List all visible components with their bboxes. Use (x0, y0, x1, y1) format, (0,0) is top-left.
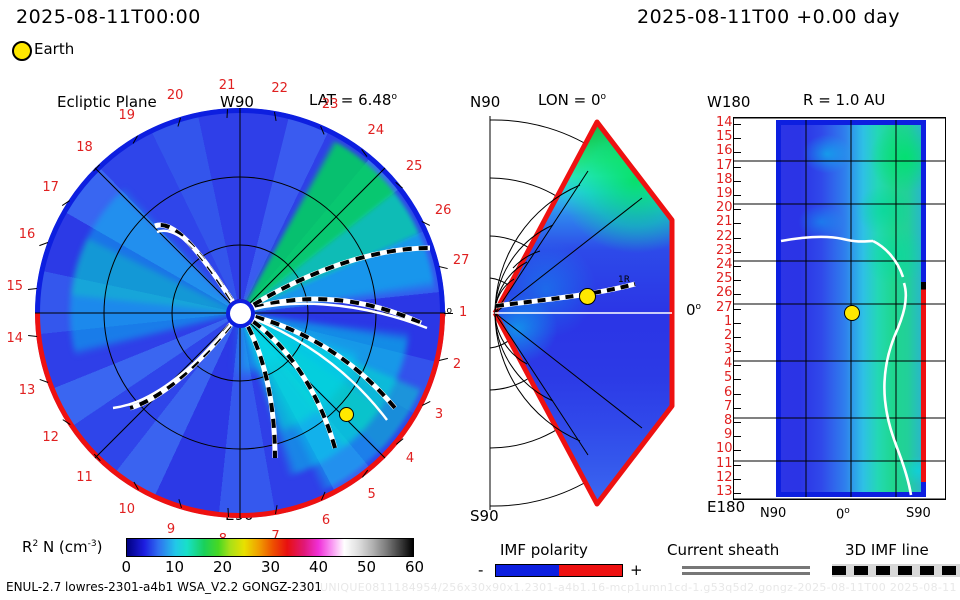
carrington-tick-20-6: 20 (716, 201, 733, 214)
colorbar-tick-50: 50 (357, 560, 376, 575)
carrington-tickmark (734, 379, 741, 380)
colorbar-tick-40: 40 (309, 560, 328, 575)
ecliptic-tick-3: 3 (435, 408, 443, 421)
imf-line-tag: 1R (618, 276, 630, 285)
ecliptic-tick-15: 15 (7, 280, 24, 293)
carrington-tickmark (734, 238, 741, 239)
carrington-x-label-zero: 0o (836, 507, 850, 521)
colorbar-label-rest: N (cm (38, 538, 87, 556)
imf-line-swatch (832, 564, 960, 577)
ecliptic-tick-13: 13 (19, 384, 36, 397)
carrington-tickmark (734, 351, 741, 352)
ecliptic-tick-19: 19 (119, 109, 136, 122)
carrington-tick-15-1: 15 (716, 130, 733, 143)
carrington-tickmark (734, 280, 741, 281)
carrington-tick-5-18: 5 (724, 371, 732, 384)
ecliptic-tick-22: 22 (271, 82, 288, 95)
carrington-tickmark (734, 138, 741, 139)
carrington-map-plot[interactable] (733, 117, 946, 500)
carrington-tickmark (734, 465, 741, 466)
earth-position-ecliptic (339, 407, 354, 422)
carrington-tickmark (734, 124, 741, 125)
carrington-bottom-left-label: E180 (707, 500, 745, 515)
ecliptic-tick-26: 26 (435, 204, 452, 217)
carrington-top-left-label: W180 (707, 95, 750, 110)
ecliptic-tick-6: 6 (322, 514, 330, 527)
carrington-tickmark (734, 337, 741, 338)
current-sheath-swatch (682, 566, 810, 578)
meridional-title: LON = 0o (538, 93, 606, 108)
colorbar-label-exp2: -3 (88, 539, 97, 549)
carrington-x-zero-degree: o (844, 506, 850, 516)
ecliptic-tick-24: 24 (368, 124, 385, 137)
carrington-tick-8-21: 8 (724, 414, 732, 427)
carrington-tickmark (734, 294, 741, 295)
colorbar-tick-20: 20 (213, 560, 232, 575)
ecliptic-tick-11: 11 (76, 471, 93, 484)
carrington-tick-23-9: 23 (716, 244, 733, 257)
carrington-tickmark (734, 152, 741, 153)
carrington-tick-3-16: 3 (724, 343, 732, 356)
ecliptic-tick-1: 1 (459, 306, 467, 319)
model-string: ENUL-2.7 lowres-2301-a4b1 WSA_V2.2 GONGZ… (6, 581, 322, 593)
carrington-tick-19-5: 19 (716, 187, 733, 200)
carrington-tick-18-4: 18 (716, 173, 733, 186)
carrington-x-label-s90: S90 (906, 507, 931, 520)
imf-minus-label: - (478, 563, 483, 578)
carrington-tick-6-19: 6 (724, 386, 732, 399)
meridional-title-value: LON = 0 (538, 91, 601, 109)
carrington-tickmark (734, 266, 741, 267)
carrington-tickmark (734, 167, 741, 168)
carrington-tickmark (734, 422, 741, 423)
carrington-tickmark (734, 365, 741, 366)
earth-legend-label: Earth (34, 42, 74, 57)
colorbar-tick-30: 30 (261, 560, 280, 575)
carrington-tick-11-24: 11 (716, 457, 733, 470)
ecliptic-tick-21: 21 (219, 79, 236, 92)
carrington-tick-1-14: 1 (724, 315, 732, 328)
carrington-tickmark (734, 195, 741, 196)
carrington-tickmark (734, 309, 741, 310)
ecliptic-tick-5: 5 (368, 488, 376, 501)
carrington-tick-27-13: 27 (716, 301, 733, 314)
colorbar-tick-60: 60 (405, 560, 424, 575)
current-sheath-title: Current sheath (667, 543, 779, 558)
ecliptic-tick-4: 4 (406, 452, 414, 465)
ecliptic-tick-20: 20 (167, 89, 184, 102)
carrington-tickmark (734, 209, 741, 210)
carrington-tick-12-25: 12 (716, 471, 733, 484)
carrington-tick-17-3: 17 (716, 159, 733, 172)
ecliptic-tick-17: 17 (42, 181, 59, 194)
carrington-tickmark (734, 450, 741, 451)
carrington-tick-10-23: 10 (716, 442, 733, 455)
density-colorbar[interactable] (126, 538, 414, 557)
ecliptic-tick-10: 10 (119, 503, 136, 516)
imf-polarity-bar (495, 564, 623, 577)
ecliptic-tick-25: 25 (406, 160, 423, 173)
timestamp-left: 2025-08-11T00:00 (16, 8, 201, 27)
ecliptic-tick-9: 9 (167, 523, 175, 536)
sun-marker (230, 303, 251, 324)
carrington-gridlines (733, 117, 946, 500)
colorbar-tick-10: 10 (165, 560, 184, 575)
carrington-tick-9-22: 9 (724, 428, 732, 441)
timestamp-right: 2025-08-11T00 +0.00 day (637, 8, 900, 27)
colorbar-label-r: R (22, 538, 32, 556)
ecliptic-tick-27: 27 (453, 254, 470, 267)
carrington-tickmark (734, 181, 741, 182)
ecliptic-tickmark (28, 335, 37, 337)
carrington-tick-22-8: 22 (716, 230, 733, 243)
watermark-text: UNIQUE0811184954/256x30x90x1.2301-a4b1.1… (320, 582, 957, 593)
carrington-tick-2-15: 2 (724, 329, 732, 342)
ecliptic-tickmark (444, 313, 453, 314)
carrington-title: R = 1.0 AU (803, 93, 885, 108)
meridional-title-degree: o (601, 92, 607, 102)
ecliptic-tick-12: 12 (42, 431, 59, 444)
carrington-tick-4-17: 4 (724, 357, 732, 370)
carrington-tick-13-26: 13 (716, 485, 733, 498)
ecliptic-right-degree: o (447, 306, 453, 316)
colorbar-label: R2 N (cm-3) (22, 540, 102, 555)
earth-marker-icon (12, 41, 32, 61)
carrington-tick-24-10: 24 (716, 258, 733, 271)
carrington-tickmark (734, 493, 741, 494)
ecliptic-tick-16: 16 (19, 228, 36, 241)
ecliptic-tick-23: 23 (322, 98, 339, 111)
carrington-tick-14-0: 14 (716, 116, 733, 129)
earth-position-meridional (579, 288, 596, 305)
carrington-tickmark (734, 408, 741, 409)
imf-plus-label: + (630, 563, 643, 578)
carrington-tickmark (734, 436, 741, 437)
carrington-tickmark (734, 252, 741, 253)
earth-position-carrington (844, 305, 860, 321)
colorbar-label-close: ) (97, 538, 103, 556)
carrington-x-label-n90: N90 (760, 507, 786, 520)
lat-degree-symbol: o (391, 92, 397, 102)
carrington-tickmark (734, 223, 741, 224)
carrington-tickmark (734, 323, 741, 324)
meridional-plane-plot[interactable]: 1R (470, 108, 700, 518)
carrington-tick-7-20: 7 (724, 400, 732, 413)
carrington-tick-25-11: 25 (716, 272, 733, 285)
carrington-tick-16-2: 16 (716, 144, 733, 157)
meridional-wedge-grid (470, 108, 700, 518)
ecliptic-tick-18: 18 (76, 141, 93, 154)
colorbar-tick-0: 0 (122, 560, 132, 575)
carrington-tickmark (734, 479, 741, 480)
carrington-tick-21-7: 21 (716, 215, 733, 228)
imf-line-title: 3D IMF line (845, 543, 929, 558)
carrington-tick-26-12: 26 (716, 286, 733, 299)
ecliptic-tick-2: 2 (453, 358, 461, 371)
ecliptic-tick-14: 14 (7, 332, 24, 345)
imf-polarity-title: IMF polarity (500, 543, 588, 558)
carrington-tickmark (734, 394, 741, 395)
